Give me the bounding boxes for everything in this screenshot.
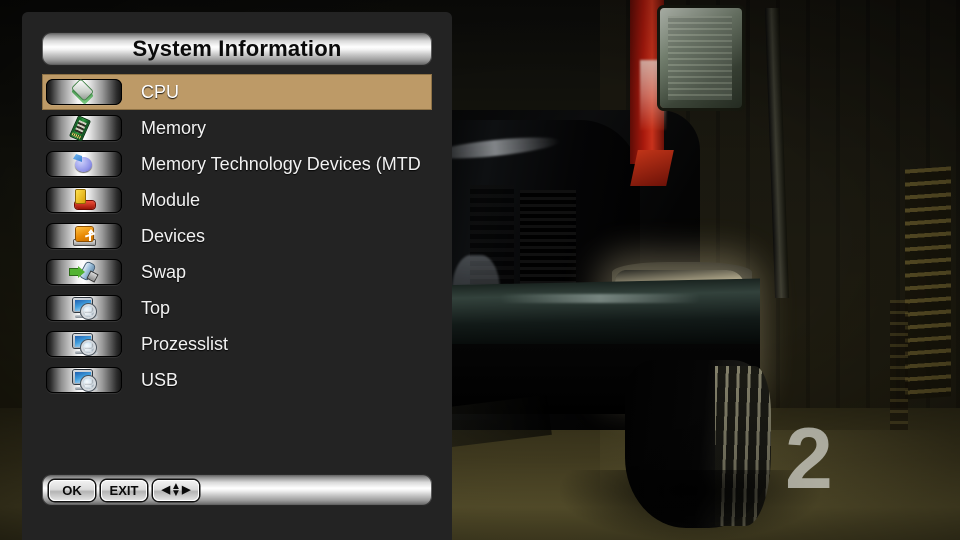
cpu-chip-icon: [69, 81, 99, 103]
menu-item-icon-tile: [46, 79, 122, 105]
menu-item-label: Prozesslist: [141, 334, 228, 355]
menu-item-cpu[interactable]: CPU: [42, 74, 432, 110]
menu-item-devices[interactable]: Devices: [42, 218, 432, 254]
menu-item-icon-tile: [46, 115, 122, 141]
exit-button[interactable]: EXIT: [101, 480, 147, 501]
menu-item-icon-tile: [46, 331, 122, 357]
dpad-button[interactable]: ◀ ▲ ▼ ▶: [153, 480, 199, 501]
channel-number-watermark: 2: [785, 416, 833, 502]
menu-item-prozesslist[interactable]: Prozesslist: [42, 326, 432, 362]
menu-item-label: Devices: [141, 226, 205, 247]
ram-module-icon: [69, 117, 99, 139]
menu-item-label: USB: [141, 370, 178, 391]
monitor-magnifier-icon: [69, 333, 99, 355]
dpad-right-icon: ▶: [182, 485, 190, 496]
menu-item-label: Top: [141, 298, 170, 319]
osd-screen: 2 System Information CPUMemoryMemory Tec…: [0, 0, 960, 540]
monitor-magnifier-icon: [69, 297, 99, 319]
menu-item-module[interactable]: Module: [42, 182, 432, 218]
brick-module-icon: [69, 189, 99, 211]
menu-item-label: Memory Technology Devices (MTD: [141, 154, 421, 175]
menu-item-icon-tile: [46, 367, 122, 393]
menu-item-usb[interactable]: USB: [42, 362, 432, 398]
pie-chart-icon: [69, 153, 99, 175]
monitor-magnifier-icon: [69, 369, 99, 391]
menu-list[interactable]: CPUMemoryMemory Technology Devices (MTDM…: [42, 74, 432, 398]
menu-item-icon-tile: [46, 223, 122, 249]
menu-item-memory[interactable]: Memory: [42, 110, 432, 146]
menu-item-icon-tile: [46, 187, 122, 213]
swap-usb-arrow-icon: [69, 261, 99, 283]
menu-item-swap[interactable]: Swap: [42, 254, 432, 290]
system-information-panel: System Information CPUMemoryMemory Techn…: [22, 12, 452, 540]
menu-item-icon-tile: [46, 151, 122, 177]
menu-item-label: Swap: [141, 262, 186, 283]
panel-title-bar: System Information: [42, 32, 432, 66]
dpad-left-icon: ◀: [162, 485, 170, 496]
usb-device-icon: [69, 225, 99, 247]
menu-item-icon-tile: [46, 295, 122, 321]
menu-item-label: Memory: [141, 118, 206, 139]
menu-item-label: Module: [141, 190, 200, 211]
button-bar: OK EXIT ◀ ▲ ▼ ▶: [42, 474, 432, 506]
menu-item-label: CPU: [141, 82, 179, 103]
page-title: System Information: [42, 32, 432, 66]
menu-item-memory-technology-devices-mtd[interactable]: Memory Technology Devices (MTD: [42, 146, 432, 182]
ok-button[interactable]: OK: [49, 480, 95, 501]
menu-item-icon-tile: [46, 259, 122, 285]
menu-item-top[interactable]: Top: [42, 290, 432, 326]
dpad-down-icon: ▼: [171, 490, 181, 497]
